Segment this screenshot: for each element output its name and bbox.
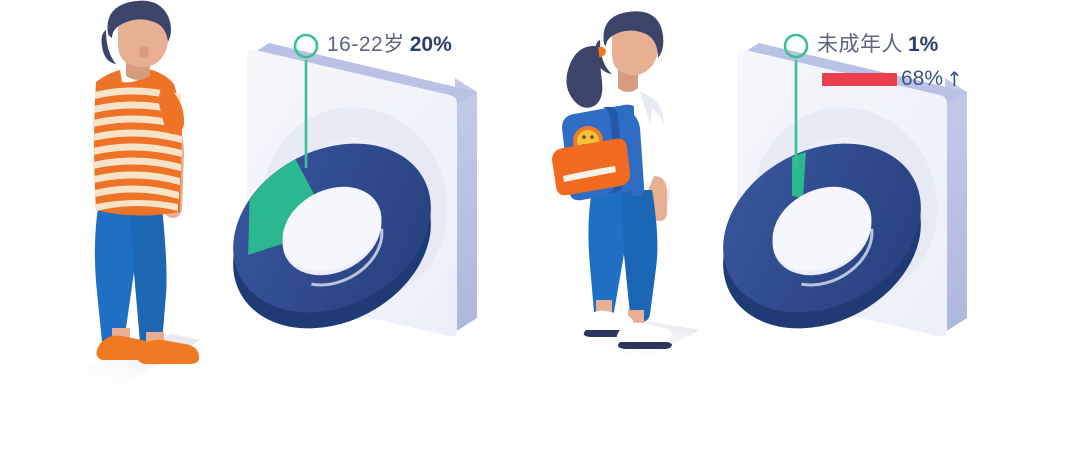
callout-left-category: 16-22岁 (327, 33, 405, 56)
infographic-canvas: 16-22岁20% 未成年人1% 68% ↑ (0, 0, 1080, 457)
standing-child-with-backpack (552, 11, 700, 360)
callout-left-label: 16-22岁20% (327, 34, 452, 55)
standing-adult (52, 1, 200, 392)
callout-right-delta: 68% ↑ (822, 67, 963, 91)
delta-bar (822, 73, 897, 86)
callout-left-value: 20% (410, 33, 452, 56)
delta-value: 68% (901, 67, 943, 91)
callout-right-value: 1% (908, 33, 938, 56)
callout-right-category: 未成年人 (817, 33, 903, 56)
delta-up-arrow-icon: ↑ (946, 67, 963, 91)
child-ponytail (566, 46, 602, 108)
callout-right-label: 未成年人1% (817, 34, 938, 55)
